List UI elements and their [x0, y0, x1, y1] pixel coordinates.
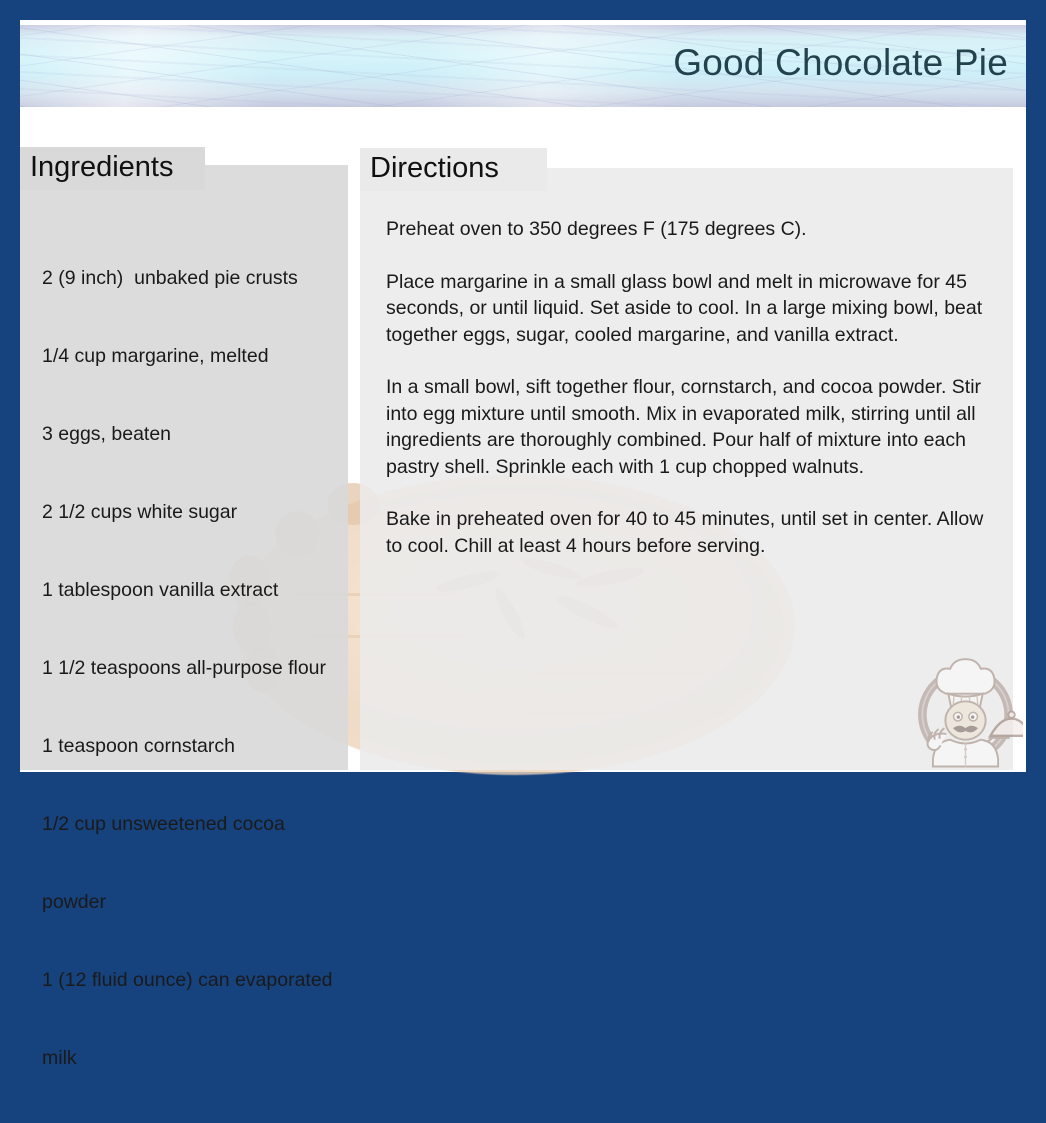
ingredient-item: 2 (9 inch) unbaked pie crusts [42, 265, 342, 291]
direction-step: Bake in preheated oven for 40 to 45 minu… [386, 506, 994, 559]
directions-list: Preheat oven to 350 degrees F (175 degre… [386, 216, 994, 559]
ingredient-item: powder [42, 889, 342, 915]
ingredient-item: milk [42, 1045, 342, 1071]
direction-step: Place margarine in a small glass bowl an… [386, 269, 994, 349]
ingredient-item: 1 tablespoon vanilla extract [42, 577, 342, 603]
directions-heading: Directions [360, 148, 547, 191]
ingredients-panel: 2 (9 inch) unbaked pie crusts 1/4 cup ma… [20, 165, 348, 770]
title-banner: Good Chocolate Pie [20, 25, 1026, 107]
chef-logo-icon [908, 650, 1023, 768]
direction-step: Preheat oven to 350 degrees F (175 degre… [386, 216, 994, 243]
recipe-page: Good Chocolate Pie 2 (9 inch) unbaked pi… [20, 20, 1026, 772]
ingredient-item: 1/4 cup margarine, melted [42, 343, 342, 369]
ingredient-item: 3 eggs, beaten [42, 421, 342, 447]
direction-step: In a small bowl, sift together flour, co… [386, 374, 994, 480]
ingredient-item: 2 1/2 cups white sugar [42, 499, 342, 525]
ingredients-list: 2 (9 inch) unbaked pie crusts 1/4 cup ma… [42, 213, 342, 1123]
ingredient-item: 1/2 cup unsweetened cocoa [42, 811, 342, 837]
ingredient-item: 1 (12 fluid ounce) can evaporated [42, 967, 342, 993]
ingredient-item: 1 1/2 teaspoons all-purpose flour [42, 655, 342, 681]
ingredient-item: 1 teaspoon cornstarch [42, 733, 342, 759]
page-title: Good Chocolate Pie [673, 42, 1008, 84]
ingredients-heading: Ingredients [20, 147, 205, 190]
